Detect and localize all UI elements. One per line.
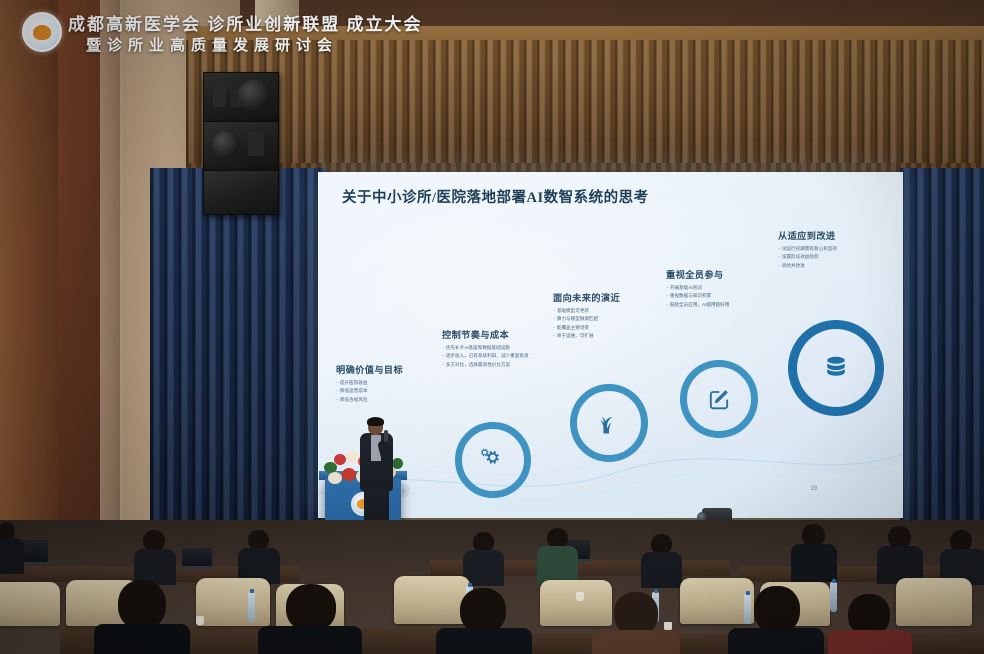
presenter-hair xyxy=(367,417,384,426)
milestone-bullet: 提升医院收益 xyxy=(336,379,448,387)
banner-line-2: 暨诊所业高质量发展研讨会 xyxy=(86,34,338,55)
milestone-bullet: 多方对比，选择最高性价比方案 xyxy=(442,361,568,369)
paper-cup xyxy=(196,616,204,625)
pa-cone xyxy=(238,80,270,112)
audience-member-front xyxy=(436,588,532,654)
audience-member xyxy=(132,530,178,580)
database-icon xyxy=(820,352,852,384)
pa-cone xyxy=(212,131,240,159)
audience-member xyxy=(640,534,684,584)
audience-member-front xyxy=(258,584,362,654)
audience-member xyxy=(462,532,506,582)
event-banner: 成都高新医学会 诊所业创新联盟 成立大会 暨诊所业高质量发展研讨会 xyxy=(0,0,984,58)
milestone-heading: 重视全员参与 xyxy=(666,267,792,281)
milestone-bullet: 鼓励全员应用，AI越用越好用 xyxy=(666,301,792,309)
database-icon-ring xyxy=(788,320,884,416)
milestone-bullet: 基础模型可更新 xyxy=(553,307,675,315)
pa-speaker-icon xyxy=(203,121,279,171)
wall-column-left xyxy=(0,0,58,540)
audience-member xyxy=(790,524,838,580)
pa-port xyxy=(213,83,226,107)
milestone-bullet: 开展基础AI培训 xyxy=(666,284,792,292)
sprout-icon xyxy=(595,409,623,437)
milestone-bullet: 逐步投入，已有系统利旧，减少重复投资 xyxy=(442,352,568,360)
presenter xyxy=(356,418,398,528)
pencil-note-icon xyxy=(705,385,733,413)
milestone-bullet: 优先补齐AI基座和数据基础设施 xyxy=(442,344,568,352)
pa-horn xyxy=(248,132,264,156)
medical-association-emblem-icon xyxy=(22,12,62,52)
milestone-heading: 从适应到改进 xyxy=(778,228,898,242)
milestone-bullet: 降低运营成本 xyxy=(336,387,448,395)
audience-member xyxy=(940,530,984,582)
milestone-heading: 明确价值与目标 xyxy=(336,362,448,376)
wall-pillar-secondary xyxy=(100,0,126,530)
milestone-block-4: 重视全员参与 开展基础AI培训 重视数据与知识积累 鼓励全员应用，AI越用越好用 xyxy=(666,267,792,309)
chair xyxy=(0,582,60,626)
audience-member-front xyxy=(94,580,190,654)
pa-speaker-icon xyxy=(203,170,279,215)
stage-curtain-left xyxy=(150,168,325,568)
gears-icon-ring xyxy=(455,422,531,498)
milestone-bullet: 设置阶段效益指标 xyxy=(778,253,898,261)
milestone-bullet: 易于运维、可扩展 xyxy=(553,332,675,340)
pencil-note-icon-ring xyxy=(680,360,758,438)
audience-member-front xyxy=(828,594,912,654)
banner-line-1: 成都高新医学会 诊所业创新联盟 成立大会 xyxy=(68,10,423,35)
audience-member xyxy=(0,522,28,572)
curtain-valance xyxy=(186,40,984,170)
pa-speaker-icon xyxy=(203,72,279,122)
conference-hall-photo: 关于中小诊所/医院落地部署AI数智系统的思考 明确价值与目标 提升医院收益 降低… xyxy=(0,0,984,654)
milestone-bullet: 能覆盖主要场景 xyxy=(553,324,675,332)
milestone-bullet: 重视数据与知识积累 xyxy=(666,292,792,300)
milestone-block-5: 从适应到改进 试运行初期需有耐心和坚持 设置阶段效益指标 调优并改进 xyxy=(778,228,898,270)
slide-title: 关于中小诊所/医院落地部署AI数智系统的思考 xyxy=(342,186,649,207)
chevron-left-icon[interactable]: ‹ xyxy=(402,486,405,495)
slide-page-number: 19 xyxy=(810,486,817,492)
water-bottle xyxy=(248,592,255,622)
audience-member-front xyxy=(592,592,680,654)
paper-cup xyxy=(576,592,584,601)
audience-member-front xyxy=(728,586,824,654)
sprout-icon-ring xyxy=(570,384,648,462)
audience-member xyxy=(876,526,924,582)
milestone-bullet: 算力与模型微调匹配 xyxy=(553,315,675,323)
milestone-heading: 面向未来的演近 xyxy=(553,290,675,304)
milestone-bullet: 降低合规风险 xyxy=(336,396,448,404)
milestone-bullet: 调优并改进 xyxy=(778,262,898,270)
milestone-block-2: 控制节奏与成本 优先补齐AI基座和数据基础设施 逐步投入，已有系统利旧，减少重复… xyxy=(442,327,568,369)
milestone-block-3: 面向未来的演近 基础模型可更新 算力与模型微调匹配 能覆盖主要场景 易于运维、可… xyxy=(553,290,675,341)
milestone-bullet: 试运行初期需有耐心和坚持 xyxy=(778,245,898,253)
audience-member xyxy=(536,528,580,580)
gears-icon xyxy=(478,445,508,475)
milestone-block-1: 明确价值与目标 提升医院收益 降低运营成本 降低合规风险 xyxy=(336,362,448,404)
audience-member xyxy=(236,530,282,580)
microphone-icon xyxy=(384,430,388,442)
milestone-heading: 控制节奏与成本 xyxy=(442,327,568,341)
